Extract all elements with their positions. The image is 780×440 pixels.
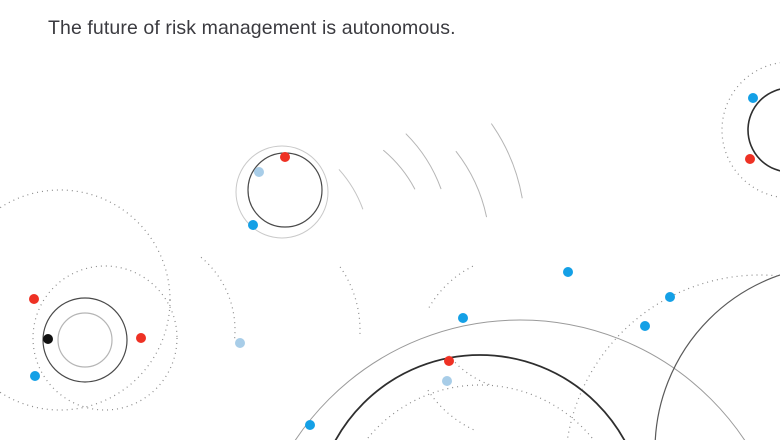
dot-red-left-isolated	[136, 333, 146, 343]
dot-paleblue-mid-ring	[254, 167, 264, 177]
dot-blue-center-node	[458, 313, 468, 323]
thin-arc-4	[492, 124, 523, 198]
thin-arc-5	[339, 170, 363, 209]
thin-arc-3	[456, 151, 486, 216]
left-dotted-ring	[33, 266, 177, 410]
bottom-dotted-ring	[335, 385, 625, 440]
arc-layer	[201, 124, 522, 440]
dot-red-left-upper	[29, 294, 39, 304]
thin-arc-2	[406, 134, 441, 189]
lowerleft-dotted-arc	[201, 257, 235, 338]
bottom-thin-ring	[250, 320, 780, 440]
circle-layer	[0, 62, 780, 440]
dot-red-center-node	[444, 356, 454, 366]
upper-dotted-arc-a	[427, 388, 474, 429]
left-outer-ring	[43, 298, 127, 382]
dot-blue-topright	[748, 93, 758, 103]
lowerleft-dotted-ring	[0, 190, 170, 410]
topright-dotted-ring	[722, 62, 780, 198]
node-dotted-arc-right	[429, 265, 476, 308]
dot-blue-right-lower	[640, 321, 650, 331]
bottom-large-dark-ring	[315, 355, 645, 440]
right-big-ring	[655, 265, 780, 440]
dot-blue-bottom-left-arc	[305, 420, 315, 430]
mid-inner-ring	[248, 153, 322, 227]
slide-canvas: The future of risk management is autonom…	[0, 0, 780, 440]
dot-blue-right-upper	[665, 292, 675, 302]
dot-red-mid-ring	[280, 152, 290, 162]
upper-dotted-arc-c	[449, 355, 489, 384]
dot-black-left-center	[43, 334, 53, 344]
thin-arc-1	[384, 150, 415, 189]
abstract-orbital-artwork	[0, 0, 780, 440]
dot-blue-left-lower	[30, 371, 40, 381]
dot-paleblue-center-node	[442, 376, 452, 386]
left-inner-ring	[58, 313, 112, 367]
bottom-dotted-arc-far	[340, 267, 360, 334]
dot-blue-center-upper	[563, 267, 573, 277]
dot-blue-mid-ring	[248, 220, 258, 230]
dot-red-topright	[745, 154, 755, 164]
dot-paleblue-midleft	[235, 338, 245, 348]
